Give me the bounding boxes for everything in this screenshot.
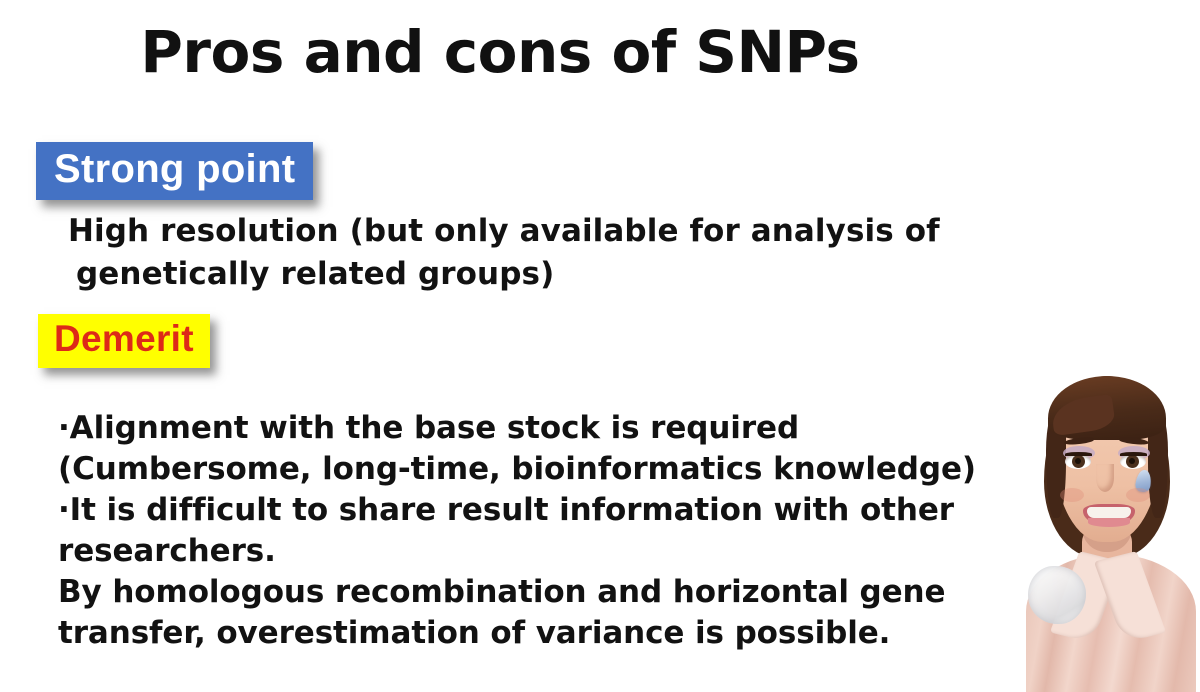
demerit-line-5: By homologous recombination and horizont… [58, 572, 1043, 613]
strong-point-badge: Strong point [36, 142, 313, 200]
strong-point-body-text: High resolution (but only available for … [68, 210, 1028, 296]
demerit-line-6: transfer, overestimation of variance is … [58, 613, 1043, 654]
demerit-line-2: (Cumbersome, long-time, bioinformatics k… [58, 449, 1043, 490]
demerit-badge: Demerit [38, 314, 210, 368]
demerit-body-text: ·Alignment with the base stock is requir… [58, 408, 1043, 654]
slide-canvas: Pros and cons of SNPs Strong point High … [0, 0, 1200, 692]
strong-point-line-1: High resolution (but only available for … [68, 210, 1028, 253]
demerit-line-4: researchers. [58, 531, 1043, 572]
white-object [1028, 566, 1086, 624]
pupil-right [1129, 458, 1135, 464]
demerit-line-3: ·It is difficult to share result informa… [58, 490, 1043, 531]
blush-right [1126, 488, 1150, 502]
teeth [1087, 507, 1131, 518]
nose [1096, 464, 1114, 492]
eyelash-right [1120, 452, 1147, 456]
worried-woman-photo [1008, 358, 1200, 692]
strong-point-line-2: genetically related groups) [68, 253, 1028, 296]
eyelash-left [1065, 452, 1092, 456]
blush-left [1060, 488, 1084, 502]
page-title: Pros and cons of SNPs [0, 18, 1000, 86]
pupil-left [1075, 458, 1081, 464]
lower-lip [1088, 518, 1130, 527]
demerit-line-1: ·Alignment with the base stock is requir… [58, 408, 1043, 449]
